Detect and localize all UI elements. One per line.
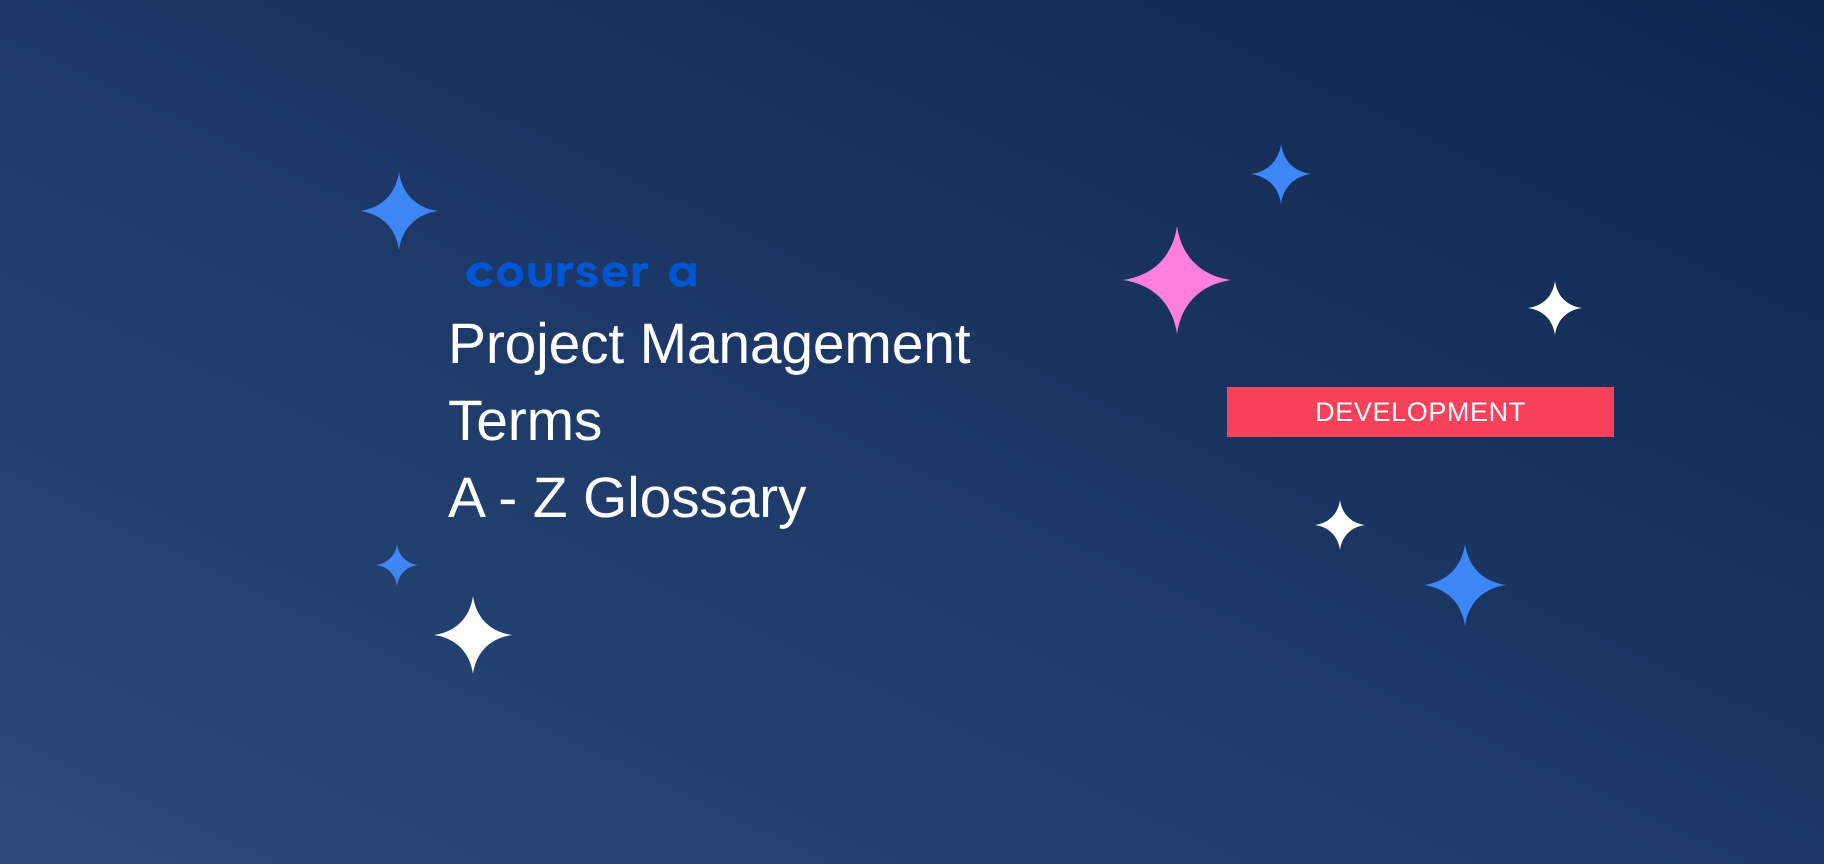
four-point-star-icon bbox=[360, 172, 438, 250]
four-point-star-icon bbox=[1251, 144, 1311, 204]
four-point-star-icon bbox=[434, 596, 512, 674]
course-banner: Project Management Terms A - Z Glossary … bbox=[0, 0, 1824, 864]
coursera-logo bbox=[465, 252, 697, 292]
banner-text-block: Project Management Terms A - Z Glossary bbox=[448, 252, 1088, 537]
four-point-star-icon bbox=[376, 544, 418, 586]
category-badge: DEVELOPMENT bbox=[1227, 387, 1614, 437]
four-point-star-icon bbox=[1528, 281, 1582, 335]
category-badge-label: DEVELOPMENT bbox=[1315, 399, 1526, 426]
four-point-star-icon bbox=[1315, 500, 1365, 550]
four-point-star-icon bbox=[1424, 544, 1506, 626]
banner-headline: Project Management Terms A - Z Glossary bbox=[448, 306, 1088, 537]
four-point-star-icon bbox=[1123, 226, 1231, 334]
